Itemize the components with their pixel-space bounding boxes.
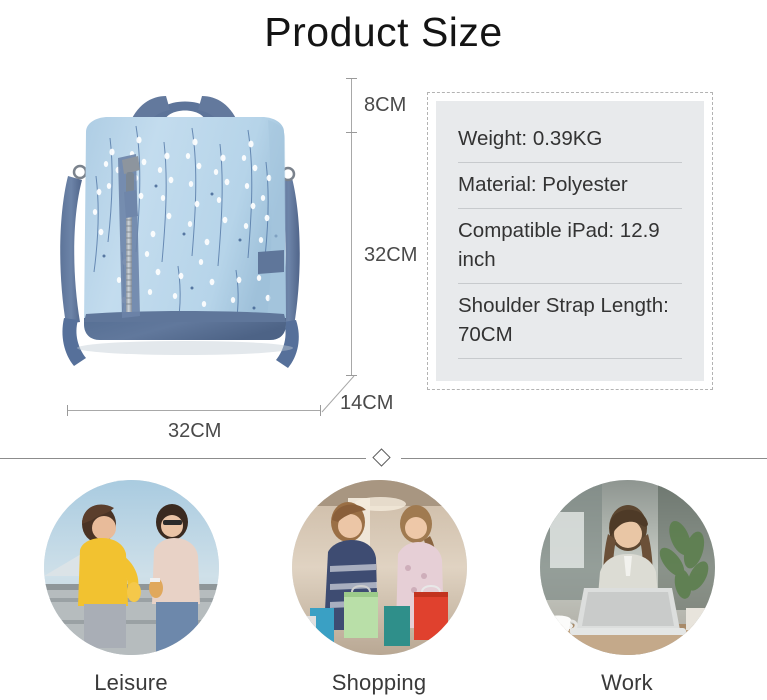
specifications-list: Weight: 0.39KG Material: Polyester Compa…: [436, 101, 704, 381]
divider-rule-left: [0, 458, 366, 459]
dimension-line-vertical: [351, 78, 352, 376]
page-title: Product Size: [0, 4, 767, 60]
product-image: [40, 66, 330, 396]
scene-leisure: Leisure: [8, 480, 254, 696]
spec-row-material: Material: Polyester: [458, 163, 682, 209]
product-size-infographic: Product Size: [0, 0, 767, 700]
scene-photo-leisure: [44, 480, 219, 655]
divider-rule-right: [401, 458, 767, 459]
scene-shopping: Shopping: [256, 480, 502, 696]
usage-scenes: Leisure: [0, 480, 767, 700]
dimension-tick-left: [67, 405, 68, 416]
section-divider: [0, 446, 767, 472]
specifications-panel: Weight: 0.39KG Material: Polyester Compa…: [427, 92, 713, 390]
dimension-tick-middle: [346, 132, 357, 133]
diamond-icon: [372, 448, 390, 466]
scene-photo-shopping: [292, 480, 467, 655]
scene-photo-work: [540, 480, 715, 655]
spec-row-weight: Weight: 0.39KG: [458, 115, 682, 163]
dimension-label-height-main: 32CM: [364, 244, 417, 267]
dimension-label-depth: 14CM: [340, 392, 393, 415]
spec-row-compatible-ipad: Compatible iPad: 12.9 inch: [458, 209, 682, 284]
scene-caption-shopping: Shopping: [256, 670, 502, 696]
dimension-line-horizontal: [67, 410, 320, 411]
backpack-illustration: [40, 66, 330, 396]
dimension-label-height-top: 8CM: [364, 94, 406, 117]
scene-work: Work: [504, 480, 750, 696]
spec-row-shoulder-strap-length: Shoulder Strap Length: 70CM: [458, 284, 682, 359]
dimension-label-width: 32CM: [168, 420, 221, 443]
scene-caption-leisure: Leisure: [8, 670, 254, 696]
dimension-tick-top: [346, 78, 357, 79]
scene-caption-work: Work: [504, 670, 750, 696]
